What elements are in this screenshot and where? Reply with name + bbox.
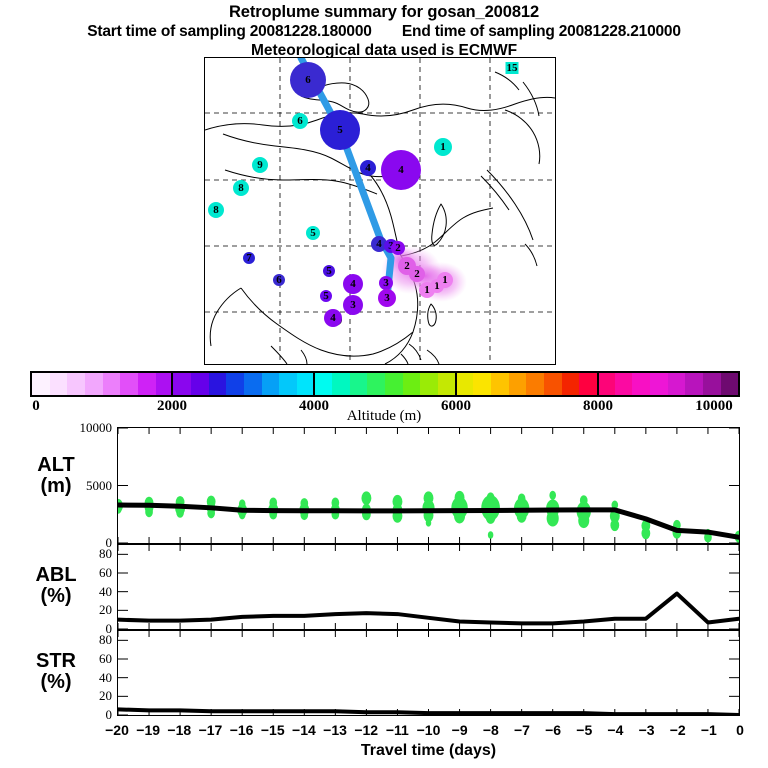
alt-plot[interactable] bbox=[117, 427, 740, 544]
colorbar-swatch bbox=[191, 373, 209, 395]
colorbar-swatch bbox=[32, 373, 50, 395]
colorbar-swatch bbox=[67, 373, 85, 395]
colorbar-swatch bbox=[209, 373, 227, 395]
y-axis-tick-label: 80 bbox=[99, 546, 117, 562]
x-axis-tick-label: −16 bbox=[230, 722, 254, 738]
map-marker-label: 8 bbox=[238, 182, 244, 194]
y-axis-tick-label: 20 bbox=[99, 688, 117, 704]
colorbar-swatch bbox=[526, 373, 544, 395]
str-plot[interactable] bbox=[117, 630, 740, 716]
map-marker-label: 9 bbox=[257, 159, 263, 171]
colorbar-swatch bbox=[120, 373, 138, 395]
colorbar-swatch bbox=[438, 373, 456, 395]
x-axis-tick-label: −11 bbox=[386, 722, 409, 738]
colorbar-swatch bbox=[491, 373, 509, 395]
colorbar-swatch bbox=[562, 373, 580, 395]
x-axis-tick-label: 0 bbox=[736, 722, 744, 738]
x-axis-tick-label: −4 bbox=[607, 722, 623, 738]
map-marker-label: 1 bbox=[440, 141, 446, 153]
start-time-label: Start time of sampling 20081228.180000 bbox=[87, 23, 371, 40]
x-axis-tick-label: −2 bbox=[670, 722, 686, 738]
colorbar-swatch bbox=[262, 373, 280, 395]
x-axis-tick-label: −15 bbox=[261, 722, 285, 738]
map-marker-label: 4 bbox=[376, 238, 382, 250]
map-marker-label: 4 bbox=[330, 312, 336, 324]
abl-plot-canvas bbox=[118, 545, 739, 629]
y-axis-tick-label: 60 bbox=[99, 651, 117, 667]
x-axis-tick-label: −14 bbox=[292, 722, 316, 738]
colorbar-swatch bbox=[350, 373, 368, 395]
colorbar-swatch bbox=[420, 373, 438, 395]
alt-scatter-point bbox=[549, 491, 556, 500]
alt-scatter-point bbox=[578, 513, 589, 528]
x-axis-tick-label: −10 bbox=[417, 722, 441, 738]
alt-scatter-point bbox=[361, 491, 371, 505]
alt-plot-canvas bbox=[118, 428, 739, 543]
colorbar-swatch bbox=[668, 373, 686, 395]
x-axis-tick-label: −19 bbox=[136, 722, 160, 738]
colorbar-swatch bbox=[721, 373, 739, 395]
header-block: Retroplume summary for gosan_200812 Star… bbox=[0, 0, 768, 60]
colorbar-separator bbox=[597, 371, 599, 397]
map-marker-label: 1 bbox=[442, 274, 448, 286]
str-plot-canvas bbox=[118, 631, 739, 715]
x-axis-tick-label: −9 bbox=[452, 722, 468, 738]
map-marker-label: 15 bbox=[506, 62, 519, 74]
colorbar-swatch bbox=[226, 373, 244, 395]
y-axis-tick-label: 10000 bbox=[80, 420, 118, 436]
map-marker-label: 2 bbox=[414, 268, 420, 280]
colorbar-swatch bbox=[473, 373, 491, 395]
x-axis-tick-label: −1 bbox=[701, 722, 717, 738]
colorbar-separator bbox=[171, 371, 173, 397]
map-marker-label: 4 bbox=[350, 278, 356, 290]
colorbar-swatch bbox=[632, 373, 650, 395]
map-marker-label: 2 bbox=[395, 242, 401, 254]
x-axis-tick-label: −12 bbox=[354, 722, 378, 738]
abl-plot[interactable] bbox=[117, 544, 740, 630]
colorbar-separator bbox=[313, 371, 315, 397]
colorbar-swatch bbox=[367, 373, 385, 395]
map-graticule bbox=[205, 58, 555, 364]
map-coastlines bbox=[205, 72, 555, 364]
map-marker-label: 5 bbox=[337, 124, 343, 136]
y-axis-tick-label: 40 bbox=[99, 584, 117, 600]
map-marker-label: 4 bbox=[398, 164, 404, 176]
colorbar-swatch bbox=[615, 373, 633, 395]
y-axis-tick-label: 20 bbox=[99, 602, 117, 618]
map-marker-label: 3 bbox=[384, 292, 390, 304]
colorbar-swatch bbox=[138, 373, 156, 395]
x-axis-tick-label: −18 bbox=[167, 722, 191, 738]
retroplume-map[interactable]: 19885665447565434432332211115 bbox=[204, 57, 556, 365]
y-axis-tick-label: 0 bbox=[106, 707, 118, 723]
map-marker-label: 7 bbox=[246, 252, 252, 264]
str-y-axis-labels: 020406080 bbox=[47, 631, 117, 715]
colorbar-swatch bbox=[403, 373, 421, 395]
colorbar-swatch bbox=[544, 373, 562, 395]
x-axis-tick-label: −17 bbox=[199, 722, 223, 738]
x-axis-title: Travel time (days) bbox=[117, 742, 740, 760]
alt-scatter-point bbox=[610, 519, 619, 531]
alt-scatter-point bbox=[426, 519, 432, 527]
end-time-label: End time of sampling 20081228.210000 bbox=[402, 23, 681, 40]
colorbar-swatch bbox=[597, 373, 615, 395]
y-axis-tick-label: 40 bbox=[99, 670, 117, 686]
y-axis-tick-label: 80 bbox=[99, 632, 117, 648]
map-canvas bbox=[205, 58, 555, 364]
y-axis-tick-label: 5000 bbox=[86, 478, 117, 494]
colorbar-swatch bbox=[650, 373, 668, 395]
colorbar-swatch bbox=[103, 373, 121, 395]
x-axis-tick-label: −3 bbox=[639, 722, 655, 738]
colorbar-swatch bbox=[579, 373, 597, 395]
alt-y-axis-labels: 0500010000 bbox=[47, 428, 117, 543]
colorbar-swatch bbox=[173, 373, 191, 395]
x-axis-tick-label: −5 bbox=[576, 722, 592, 738]
alt-scatter-point bbox=[176, 507, 184, 518]
map-marker-label: 1 bbox=[424, 284, 430, 296]
map-marker-label: 4 bbox=[365, 162, 371, 174]
colorbar-swatch bbox=[685, 373, 703, 395]
colorbar-swatch bbox=[85, 373, 103, 395]
abl-y-axis-labels: 020406080 bbox=[47, 545, 117, 629]
x-axis-tick-label: −6 bbox=[545, 722, 561, 738]
alt-scatter-point bbox=[488, 531, 494, 539]
alt-scatter-point bbox=[641, 527, 650, 539]
map-marker-label: 8 bbox=[213, 204, 219, 216]
map-marker-label: 5 bbox=[323, 290, 329, 302]
y-axis-tick-label: 60 bbox=[99, 565, 117, 581]
colorbar-swatch bbox=[244, 373, 262, 395]
x-axis-tick-label: −8 bbox=[483, 722, 499, 738]
map-marker-label: 6 bbox=[297, 115, 303, 127]
map-marker-label: 6 bbox=[305, 74, 311, 86]
map-marker-label: 3 bbox=[350, 299, 356, 311]
colorbar-swatch bbox=[703, 373, 721, 395]
map-marker-label: 3 bbox=[383, 277, 389, 289]
colorbar-swatch bbox=[315, 373, 333, 395]
colorbar-swatch bbox=[297, 373, 315, 395]
colorbar-swatch bbox=[509, 373, 527, 395]
mean-trend-line bbox=[118, 594, 739, 624]
x-axis-tick-label: −20 bbox=[105, 722, 129, 738]
colorbar-swatch bbox=[50, 373, 68, 395]
colorbar-swatch bbox=[332, 373, 350, 395]
map-marker-label: 5 bbox=[326, 265, 332, 277]
x-axis-tick-label: −7 bbox=[514, 722, 530, 738]
colorbar-separator bbox=[455, 371, 457, 397]
map-marker-label: 5 bbox=[310, 227, 316, 239]
alt-scatter-point bbox=[145, 507, 153, 518]
map-marker-label: 6 bbox=[276, 274, 282, 286]
x-axis-tick-label: −13 bbox=[323, 722, 347, 738]
colorbar-swatch bbox=[456, 373, 474, 395]
altitude-colorbar[interactable] bbox=[30, 371, 740, 397]
page-title: Retroplume summary for gosan_200812 bbox=[0, 3, 768, 22]
sampling-time-row: Start time of sampling 20081228.180000 E… bbox=[0, 22, 768, 41]
colorbar-swatch bbox=[385, 373, 403, 395]
colorbar-swatch bbox=[279, 373, 297, 395]
